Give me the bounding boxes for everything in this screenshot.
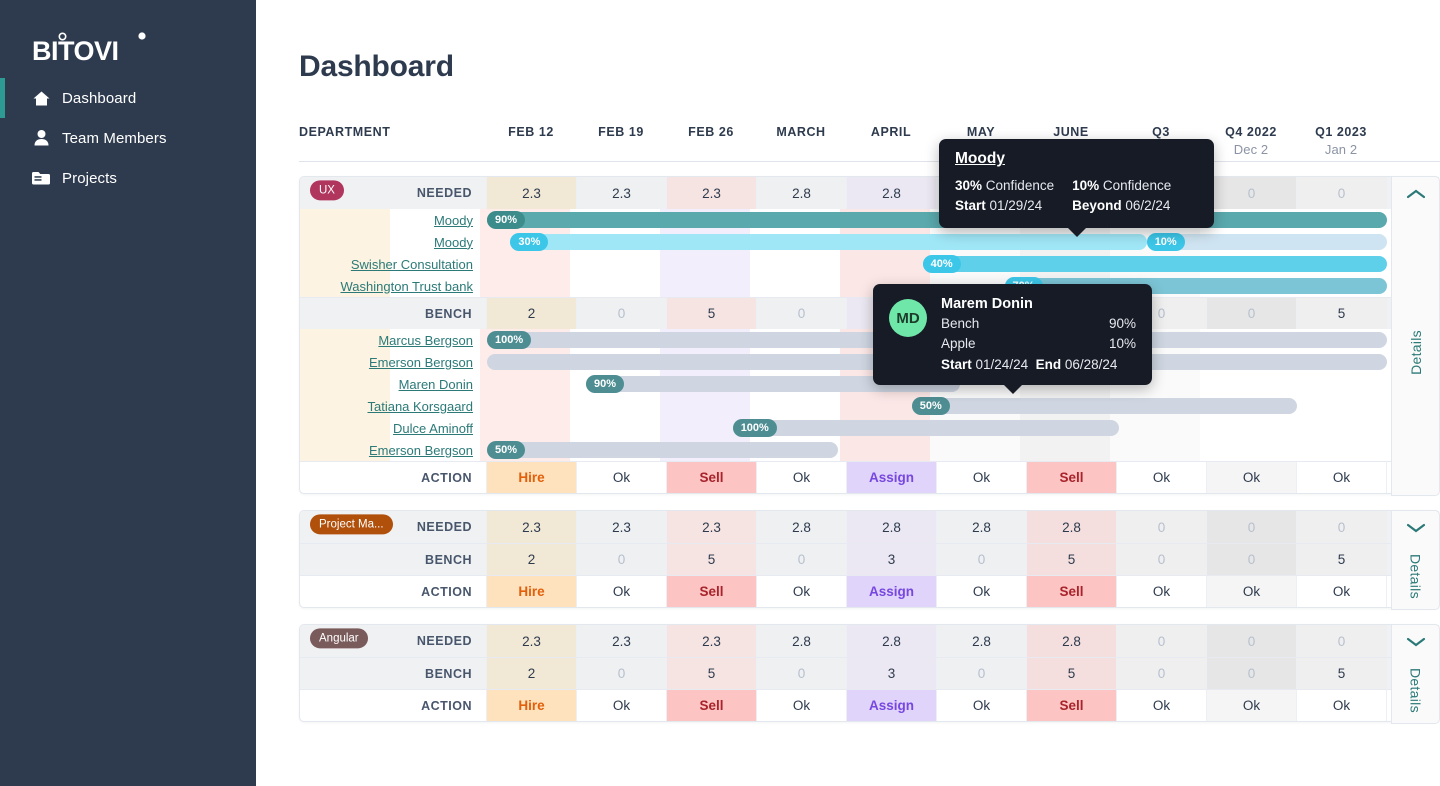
action-value: Sell [1059,584,1083,599]
needed-row: AngularNEEDED2.32.32.32.82.82.82.8000 [300,625,1439,657]
gantt-bar-percent: 30% [510,233,548,251]
folder-icon [32,169,50,187]
details-label-wrap: Details [1408,657,1424,723]
grid-header: DEPARTMENT FEB 12 FEB 19 FEB 26 MARCH AP… [299,116,1440,161]
gantt-bar[interactable]: 100% [733,420,1119,436]
tooltip-project-confidence-right: 10% Confidence [1072,176,1171,196]
bench-cell: 0 [577,544,667,575]
action-value: Ok [1153,470,1170,485]
action-cell: Ok [1117,690,1207,721]
needed-row: UXNEEDED2.32.32.32.82.82.82.8000 [300,177,1439,209]
gantt-row-name[interactable]: Washington Trust bank [300,279,487,294]
needed-row: Project Ma...NEEDED2.32.32.32.82.82.82.8… [300,511,1439,543]
gantt-row-name[interactable]: Marcus Bergson [300,333,487,348]
needed-cell: 2.8 [757,625,847,657]
needed-cell: 2.3 [487,625,577,657]
sidebar-item-label: Team Members [62,130,167,147]
action-row: ACTIONHireOkSellOkAssignOkSellOkOkOk [300,689,1439,721]
bench-cell: 0 [1207,658,1297,689]
action-cell: Ok [757,462,847,493]
action-cell: Ok [937,690,1027,721]
column-header-april: APRIL [846,116,936,142]
action-value: Sell [699,470,723,485]
bench-gantt: Marcus Bergson100%Emerson Bergson80%Mare… [300,329,1439,461]
row-label-needed: NEEDED [300,511,487,543]
action-value: Ok [613,698,630,713]
department-section: AngularNEEDED2.32.32.32.82.82.82.8000BEN… [299,624,1440,722]
bench-cell: 5 [1297,544,1387,575]
gantt-row-name[interactable]: Swisher Consultation [300,257,487,272]
header-divider [299,161,1440,162]
main-content: Dashboard DEPARTMENT FEB 12 FEB 19 FEB 2… [256,0,1440,786]
gantt-bar[interactable]: 50% [912,398,1297,414]
gantt-bar[interactable]: 50% [487,442,838,458]
needed-cell: 2.8 [1027,511,1117,543]
needed-cell: 2.8 [757,511,847,543]
action-cell: Ok [1117,462,1207,493]
action-value: Ok [1243,584,1260,599]
action-value: Sell [1059,470,1083,485]
tooltip-person-row: Bench 90% [941,314,1136,334]
column-header-q4-2022: Q4 2022 Dec 2 [1206,116,1296,157]
gantt-track: 50% [487,395,1439,417]
needed-cell: 2.8 [847,511,937,543]
action-value: Ok [1333,470,1350,485]
action-cell: Ok [1207,690,1297,721]
gantt-track: 100% [487,417,1439,439]
bench-cell: 0 [577,658,667,689]
sidebar-nav: Dashboard Team Members Projects [0,78,256,198]
gantt-bar-percent: 10% [1147,233,1185,251]
row-label-needed: NEEDED [300,625,487,657]
bench-cell: 5 [667,658,757,689]
needed-cell: 0 [1207,511,1297,543]
gantt-bar[interactable]: 90% [487,212,1387,228]
action-value: Ok [1243,470,1260,485]
gantt-bar-percent: 40% [923,255,961,273]
action-value: Ok [973,584,990,599]
bench-cell: 3 [847,658,937,689]
chevron-down-icon [1406,511,1426,543]
action-cell: Ok [1117,576,1207,607]
gantt-bar-percent: 100% [733,419,777,437]
gantt-row-name[interactable]: Moody [300,235,487,250]
action-value: Ok [973,698,990,713]
sidebar-item-team-members[interactable]: Team Members [0,118,256,158]
gantt-row: Swisher Consultation40% [300,253,1439,275]
tooltip-person-dates: Start 01/24/24 End 06/28/24 [941,357,1136,372]
action-value: Ok [613,584,630,599]
svg-text:BITOVI: BITOVI [32,36,119,66]
capacity-grid: DEPARTMENT FEB 12 FEB 19 FEB 26 MARCH AP… [299,116,1440,722]
row-label-bench: BENCH [300,658,487,689]
gantt-row: Moody30%10% [300,231,1439,253]
needed-cell: 2.8 [847,625,937,657]
gantt-bar[interactable]: 40% [923,256,1387,272]
details-toggle[interactable]: Details [1391,624,1440,724]
bench-row: BENCH2050305005 [300,657,1439,689]
gantt-row: Emerson Bergson50% [300,439,1439,461]
action-cell: Hire [487,462,577,493]
bench-cell: 0 [937,544,1027,575]
action-value: Ok [1243,698,1260,713]
needed-cell: 2.8 [1027,625,1117,657]
needed-cell: 2.3 [577,625,667,657]
needed-cell: 2.8 [937,511,1027,543]
action-value: Hire [518,470,544,485]
action-cell: Ok [1297,576,1387,607]
action-cell: Sell [1027,576,1117,607]
action-value: Assign [869,470,914,485]
tooltip-person-row: Apple 10% [941,334,1136,354]
action-value: Sell [1059,698,1083,713]
bench-cell: 2 [487,544,577,575]
gantt-bar-percent: 50% [912,397,950,415]
row-label-bench: BENCH [300,298,487,329]
page-title: Dashboard [299,50,454,84]
tooltip-project: Moody 30% Confidence Start 01/29/24 10% … [939,139,1214,228]
action-cell: Assign [847,462,937,493]
tooltip-project-beyond: Beyond 06/2/24 [1072,196,1171,216]
gantt-row-name[interactable]: Emerson Bergson [300,355,487,370]
details-label-wrap: Details [1408,543,1424,609]
action-value: Hire [518,698,544,713]
action-cell: Ok [937,576,1027,607]
bench-row: BENCH2050305005 [300,297,1439,329]
action-cell: Ok [1207,576,1297,607]
chevron-up-icon [1406,177,1426,209]
gantt-row: Dulce Aminoff100% [300,417,1439,439]
details-toggle[interactable]: Details [1391,510,1440,610]
action-cell: Ok [1297,690,1387,721]
action-value: Ok [1333,698,1350,713]
needed-cell: 2.8 [937,625,1027,657]
column-header-feb26: FEB 26 [666,116,756,142]
sidebar-item-projects[interactable]: Projects [0,158,256,198]
action-value: Ok [1333,584,1350,599]
gantt-row: Tatiana Korsgaard50% [300,395,1439,417]
action-value: Ok [613,470,630,485]
bench-cell: 5 [667,298,757,329]
row-label-action: ACTION [300,576,487,607]
needed-cell: 2.3 [667,177,757,209]
needed-cell: 2.8 [757,177,847,209]
row-label-action: ACTION [300,462,487,493]
action-cell: Ok [757,690,847,721]
sidebar-item-dashboard[interactable]: Dashboard [0,78,256,118]
needed-gantt: Moody90%Moody30%10%Swisher Consultation4… [300,209,1439,297]
action-cell: Sell [667,690,757,721]
column-header-q1-2023: Q1 2023 Jan 2 [1296,116,1386,157]
column-header-march: MARCH [756,116,846,142]
gantt-row-name[interactable]: Maren Donin [300,377,487,392]
sidebar-item-label: Dashboard [62,90,136,107]
bench-cell: 5 [1027,658,1117,689]
sidebar: BITOVI Dashboard Team Members Proj [0,0,256,786]
gantt-row: Maren Donin90% [300,373,1439,395]
needed-cell: 0 [1207,177,1297,209]
gantt-bar[interactable]: 30% [510,234,1146,250]
gantt-row-name[interactable]: Emerson Bergson [300,443,487,458]
bench-cell: 0 [1117,658,1207,689]
action-cell: Hire [487,690,577,721]
action-value: Ok [793,584,810,599]
action-cell: Ok [577,462,667,493]
needed-cell: 0 [1297,625,1387,657]
action-value: Ok [1153,698,1170,713]
action-cell: Ok [757,576,847,607]
department-section: Project Ma...NEEDED2.32.32.32.82.82.82.8… [299,510,1440,608]
gantt-bar-percent: 100% [487,331,531,349]
action-cell: Ok [577,690,667,721]
avatar: MD [889,299,927,337]
row-label-action: ACTION [300,690,487,721]
bench-cell: 0 [1117,544,1207,575]
action-cell: Sell [667,462,757,493]
bench-cell: 5 [1297,658,1387,689]
sidebar-item-label: Projects [62,170,117,187]
department-section: UXNEEDED2.32.32.32.82.82.82.8000Moody90%… [299,176,1440,494]
details-label-wrap: Details [1408,209,1424,495]
person-icon [32,129,50,147]
action-row: ACTIONHireOkSellOkAssignOkSellOkOkOk [300,461,1439,493]
bench-cell: 5 [1297,298,1387,329]
tooltip-person-name: Marem Donin [941,296,1136,312]
action-cell: Sell [1027,462,1117,493]
action-value: Ok [793,698,810,713]
gantt-row-name[interactable]: Moody [300,213,487,228]
gantt-track: 30%10% [487,231,1439,253]
column-header-details-spacer [1386,116,1435,125]
bench-cell: 5 [667,544,757,575]
action-cell: Assign [847,690,937,721]
needed-cell: 2.3 [667,625,757,657]
needed-cell: 2.3 [577,177,667,209]
action-cell: Assign [847,576,937,607]
bitovi-logo: BITOVI [32,28,212,68]
gantt-row-name[interactable]: Dulce Aminoff [300,421,487,436]
gantt-bar-percent: 90% [586,375,624,393]
action-value: Assign [869,698,914,713]
column-header-department: DEPARTMENT [299,116,486,139]
bench-cell: 3 [847,544,937,575]
action-cell: Hire [487,576,577,607]
gantt-row: Washington Trust bank70% [300,275,1439,297]
gantt-row: Emerson Bergson80% [300,351,1439,373]
gantt-bar-secondary[interactable]: 10% [1147,234,1387,250]
needed-cell: 2.3 [487,177,577,209]
column-header-feb12: FEB 12 [486,116,576,142]
bench-cell: 0 [1207,544,1297,575]
bench-cell: 0 [577,298,667,329]
tooltip-project-confidence-left: 30% Confidence [955,176,1054,196]
needed-cell: 2.3 [667,511,757,543]
action-cell: Ok [1207,462,1297,493]
row-label-bench: BENCH [300,544,487,575]
action-cell: Ok [1297,462,1387,493]
bench-cell: 5 [1027,544,1117,575]
action-row: ACTIONHireOkSellOkAssignOkSellOkOkOk [300,575,1439,607]
bench-cell: 2 [487,658,577,689]
gantt-track: 40% [487,253,1439,275]
gantt-row: Moody90% [300,209,1439,231]
column-header-feb19: FEB 19 [576,116,666,142]
action-cell: Sell [1027,690,1117,721]
tooltip-person: MD Marem Donin Bench 90% Apple 10% Start… [873,284,1152,385]
bench-cell: 0 [757,298,847,329]
action-cell: Ok [577,576,667,607]
action-cell: Ok [937,462,1027,493]
gantt-row-name[interactable]: Tatiana Korsgaard [300,399,487,414]
details-label: Details [1408,668,1424,713]
action-value: Sell [699,698,723,713]
action-value: Ok [973,470,990,485]
needed-cell: 0 [1297,511,1387,543]
gantt-row: Marcus Bergson100% [300,329,1439,351]
row-label-needed: NEEDED [300,177,487,209]
home-icon [32,89,50,107]
needed-cell: 0 [1117,511,1207,543]
needed-cell: 0 [1207,625,1297,657]
action-value: Ok [1153,584,1170,599]
tooltip-project-start: Start 01/29/24 [955,196,1054,216]
details-label: Details [1408,554,1424,599]
needed-cell: 0 [1297,177,1387,209]
chevron-down-icon [1406,625,1426,657]
tooltip-project-title: Moody [955,150,1198,168]
needed-cell: 2.8 [847,177,937,209]
action-value: Assign [869,584,914,599]
details-label: Details [1408,330,1424,375]
details-toggle[interactable]: Details [1391,176,1440,496]
needed-cell: 0 [1117,625,1207,657]
bench-cell: 0 [757,658,847,689]
gantt-bar-percent: 50% [487,441,525,459]
gantt-bar-percent: 90% [487,211,525,229]
gantt-track: 50% [487,439,1439,461]
needed-cell: 2.3 [577,511,667,543]
sections-container: UXNEEDED2.32.32.32.82.82.82.8000Moody90%… [299,176,1440,722]
bench-cell: 0 [937,658,1027,689]
action-value: Hire [518,584,544,599]
bench-cell: 0 [1207,298,1297,329]
bench-cell: 0 [757,544,847,575]
action-value: Ok [793,470,810,485]
bench-cell: 2 [487,298,577,329]
needed-cell: 2.3 [487,511,577,543]
action-value: Sell [699,584,723,599]
action-cell: Sell [667,576,757,607]
bench-row: BENCH2050305005 [300,543,1439,575]
